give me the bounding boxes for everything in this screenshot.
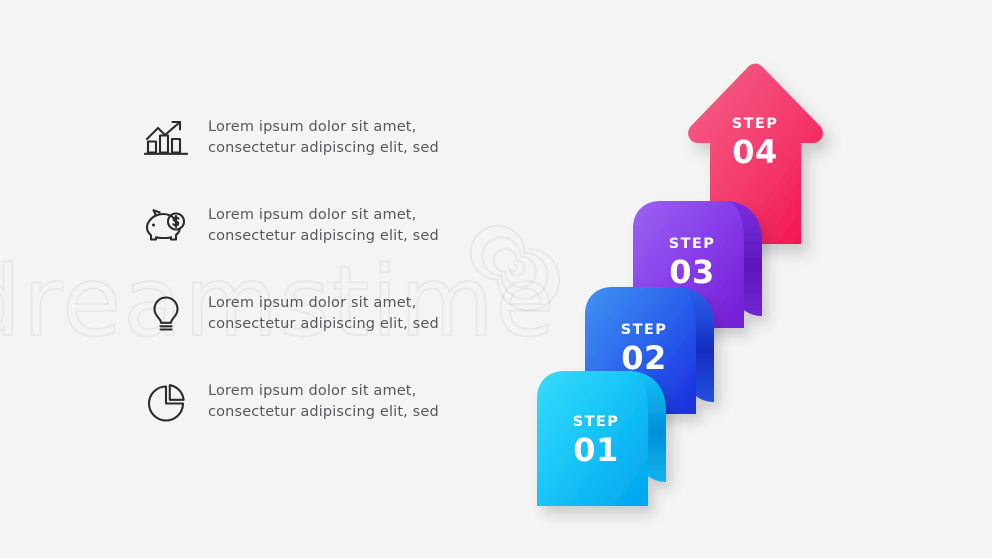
feature-list: Lorem ipsum dolor sit amet, consectetur … <box>140 108 470 460</box>
list-item[interactable]: Lorem ipsum dolor sit amet, consectetur … <box>140 108 470 196</box>
list-item[interactable]: Lorem ipsum dolor sit amet, consectetur … <box>140 372 470 460</box>
list-item-text: Lorem ipsum dolor sit amet, consectetur … <box>208 284 439 335</box>
list-item-text: Lorem ipsum dolor sit amet, consectetur … <box>208 108 439 159</box>
infographic-canvas: dreamstime Lorem ipsum dolor <box>0 0 992 558</box>
bar-chart-growth-icon <box>140 112 192 164</box>
list-item[interactable]: Lorem ipsum dolor sit amet, consectetur … <box>140 284 470 372</box>
list-item-text: Lorem ipsum dolor sit amet, consectetur … <box>208 196 439 247</box>
list-item-text: Lorem ipsum dolor sit amet, consectetur … <box>208 372 439 423</box>
list-item[interactable]: Lorem ipsum dolor sit amet, consectetur … <box>140 196 470 284</box>
pie-chart-icon <box>140 376 192 428</box>
step-01-shape[interactable]: STEP 01 <box>536 370 696 510</box>
step-stack: STEP 04 <box>528 58 868 508</box>
lightbulb-icon <box>140 288 192 340</box>
piggy-bank-dollar-icon <box>140 200 192 252</box>
